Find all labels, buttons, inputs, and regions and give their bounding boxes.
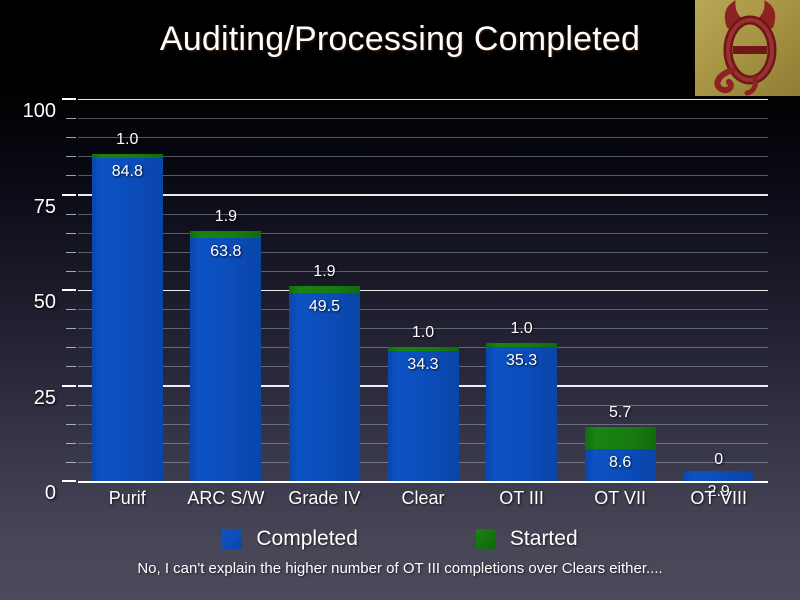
chart-legend: Completed Started xyxy=(0,527,800,551)
gridline-minor xyxy=(78,137,768,138)
bar-segment-started[interactable]: 1.0 xyxy=(486,343,557,347)
gridline-minor xyxy=(78,156,768,157)
legend-swatch-started xyxy=(476,529,496,549)
bar-segment-started[interactable]: 1.0 xyxy=(92,154,163,158)
bar-group[interactable]: 84.81.0 xyxy=(92,154,163,482)
bar-group[interactable]: 35.31.0 xyxy=(486,343,557,482)
bar-segment-started[interactable]: 1.0 xyxy=(388,347,459,351)
gridline-minor xyxy=(78,271,768,272)
bar-value-label-completed: 34.3 xyxy=(388,356,459,374)
y-axis-tick xyxy=(66,405,76,406)
legend-label-completed: Completed xyxy=(256,527,358,551)
bar-group[interactable]: 8.65.7 xyxy=(585,427,656,482)
y-axis-tick xyxy=(62,289,76,291)
bar-value-label-completed: 84.8 xyxy=(92,163,163,181)
y-axis-tick xyxy=(62,194,76,196)
y-axis-tick xyxy=(62,98,76,100)
y-axis-tick xyxy=(62,385,76,387)
y-axis-tick xyxy=(66,233,76,234)
bar-value-label-started: 1.0 xyxy=(388,324,459,342)
y-axis-tick xyxy=(66,137,76,138)
x-axis-label: OT III xyxy=(472,488,571,509)
bar-segment-started[interactable]: 1.9 xyxy=(190,231,261,238)
y-axis-tick xyxy=(66,424,76,425)
gridline-minor xyxy=(78,118,768,119)
legend-item-completed[interactable]: Completed xyxy=(222,527,358,551)
y-axis-tick xyxy=(66,462,76,463)
x-axis-label: OT VII xyxy=(571,488,670,509)
legend-item-started[interactable]: Started xyxy=(476,527,578,551)
x-axis-label: Grade IV xyxy=(275,488,374,509)
y-axis-tick xyxy=(66,156,76,157)
gridline-major xyxy=(78,290,768,292)
bar-value-label-completed: 8.6 xyxy=(585,454,656,472)
bar-value-label-started: 5.7 xyxy=(585,404,656,422)
bar-value-label-started: 1.0 xyxy=(92,131,163,149)
bar-segment-started[interactable]: 1.9 xyxy=(289,286,360,293)
bar-segment-completed[interactable]: 35.3 xyxy=(486,347,557,482)
chart-plot-area: 025507510084.81.0Purif63.81.9ARC S/W49.5… xyxy=(78,100,768,482)
slide-caption: No, I can't explain the higher number of… xyxy=(0,560,800,577)
y-axis-tick xyxy=(66,443,76,444)
y-axis-tick xyxy=(66,175,76,176)
bar-group[interactable]: 63.81.9 xyxy=(190,231,261,482)
x-axis-label: OT VIII xyxy=(669,488,768,509)
bar-value-label-started: 1.0 xyxy=(486,320,557,338)
y-axis-tick xyxy=(66,118,76,119)
bar-segment-completed[interactable]: 8.6 xyxy=(585,449,656,482)
y-axis-tick xyxy=(66,252,76,253)
bar-value-label-completed: 35.3 xyxy=(486,352,557,370)
bar-group[interactable]: 34.31.0 xyxy=(388,347,459,482)
x-axis-label: Purif xyxy=(78,488,177,509)
gridline-major xyxy=(78,99,768,101)
y-axis-tick xyxy=(62,480,76,482)
bar-segment-started[interactable]: 5.7 xyxy=(585,427,656,449)
x-axis-baseline xyxy=(78,481,768,483)
bar-value-label-started: 0 xyxy=(683,451,754,469)
legend-swatch-completed xyxy=(222,529,242,549)
gridline-minor xyxy=(78,175,768,176)
gridline-minor xyxy=(78,309,768,310)
y-axis-tick xyxy=(66,214,76,215)
gridline-major xyxy=(78,194,768,196)
bar-value-label-completed: 49.5 xyxy=(289,298,360,316)
bar-segment-completed[interactable]: 49.5 xyxy=(289,293,360,482)
legend-label-started: Started xyxy=(510,527,578,551)
slide-root: Auditing/Processing Completed 0255075100… xyxy=(0,0,800,600)
gridline-minor xyxy=(78,328,768,329)
y-axis-tick xyxy=(66,328,76,329)
gridline-minor xyxy=(78,233,768,234)
y-axis-tick xyxy=(66,347,76,348)
bar-group[interactable]: 49.51.9 xyxy=(289,286,360,482)
x-axis-label: Clear xyxy=(374,488,473,509)
y-axis-tick xyxy=(66,309,76,310)
gridline-minor xyxy=(78,252,768,253)
y-axis-tick xyxy=(66,271,76,272)
gridline-minor xyxy=(78,214,768,215)
bar-segment-completed[interactable]: 84.8 xyxy=(92,158,163,482)
x-axis-label: ARC S/W xyxy=(177,488,276,509)
bar-segment-completed[interactable]: 63.8 xyxy=(190,238,261,482)
page-title: Auditing/Processing Completed xyxy=(0,20,800,59)
bar-value-label-started: 1.9 xyxy=(190,208,261,226)
devil-theta-logo xyxy=(695,0,800,96)
y-axis-tick xyxy=(66,366,76,367)
bar-segment-completed[interactable]: 34.3 xyxy=(388,351,459,482)
bar-value-label-completed: 63.8 xyxy=(190,243,261,261)
